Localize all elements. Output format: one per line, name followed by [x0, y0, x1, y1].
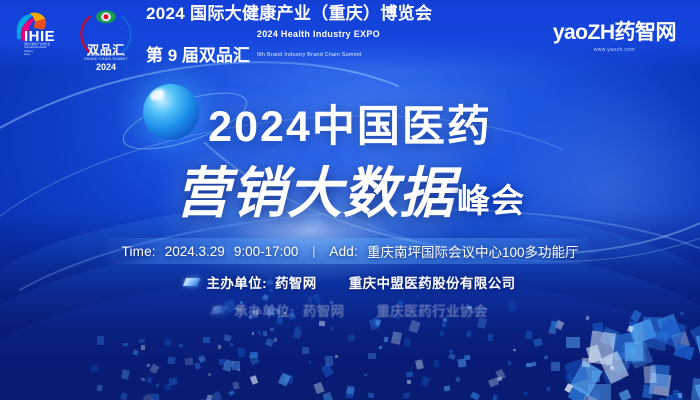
organizer-line-primary: 主办单位: 药智网 重庆中盟医药股份有限公司 — [184, 272, 515, 292]
event-banner: IHIE 国际大健康产业博览会 International Health Ind… — [0, 0, 700, 400]
organizer-value: 药智网 — [275, 272, 317, 292]
yaozh-wordmark: yaoZH药智网 — [553, 16, 676, 46]
main-title-line2: 营销大数据峰会 — [0, 148, 700, 228]
shuangpinhui-logo: 双品汇 BRAND INDUSTRY & BRAND CHAIN SUMMIT … — [78, 7, 134, 61]
yaozh-logo[interactable]: yaoZH药智网 www.yaozh.com — [553, 16, 676, 53]
organizer-value: 药智网 — [303, 300, 345, 320]
ihie-subtitle: 国际大健康产业博览会 International Health Industry… — [24, 43, 70, 57]
shuangpinhui-en2: BRAND CHAIN SUMMIT — [78, 57, 134, 61]
main-title-tail-text: 峰会 — [457, 182, 525, 219]
organizer-label: 承办单位: — [234, 300, 295, 320]
event-title-line2: 第 9 届双品汇 2024 Health Industry EXPO 9th B… — [146, 24, 432, 66]
time-date: 2024.3.29 — [165, 244, 225, 259]
ihie-logo: IHIE 国际大健康产业博览会 International Health Ind… — [10, 8, 72, 60]
ihie-sub-en3: Expo — [24, 53, 70, 56]
info-separator: 丨 — [307, 242, 320, 261]
event-title-line2-en: 2024 Health Industry EXPO 9th Brand Indu… — [257, 24, 380, 66]
banner-header: IHIE 国际大健康产业博览会 International Health Ind… — [0, 0, 700, 68]
organizer-marker-icon — [183, 278, 200, 286]
address-value: 重庆南坪国际会议中心100多功能厅 — [367, 241, 579, 261]
time-range: 9:00-17:00 — [234, 244, 299, 259]
event-title-en-sub: 9th Brand Industry Brand Chain Summit — [257, 45, 380, 66]
main-title-line1: 2024中国医药 — [0, 92, 700, 154]
time-label: Time: — [122, 244, 156, 259]
yaozh-url: www.yaozh.com — [553, 47, 676, 53]
organizer-value-secondary: 重庆中盟医药股份有限公司 — [349, 272, 516, 292]
organizer-marker-icon — [211, 306, 228, 314]
shuangpinhui-year: 2024 — [78, 62, 134, 72]
main-title-brush-text: 营销大数据 — [175, 160, 455, 225]
address-label: Add: — [329, 244, 358, 259]
event-title-block: 2024 国际大健康产业（重庆）博览会 第 9 届双品汇 2024 Health… — [146, 3, 432, 66]
event-title-line2-cn: 第 9 届双品汇 — [146, 45, 250, 66]
event-title-line1: 2024 国际大健康产业（重庆）博览会 — [146, 3, 432, 24]
organizer-value-secondary: 重庆医药行业协会 — [377, 300, 488, 320]
event-info-bar: Time: 2024.3.29 9:00-17:00 丨 Add: 重庆南坪国际… — [102, 238, 599, 264]
event-title-en-main: 2024 Health Industry EXPO — [257, 24, 380, 45]
organizer-line-secondary: 承办单位: 药智网 重庆医药行业协会 — [212, 300, 487, 320]
organizer-label: 主办单位: — [206, 272, 267, 292]
